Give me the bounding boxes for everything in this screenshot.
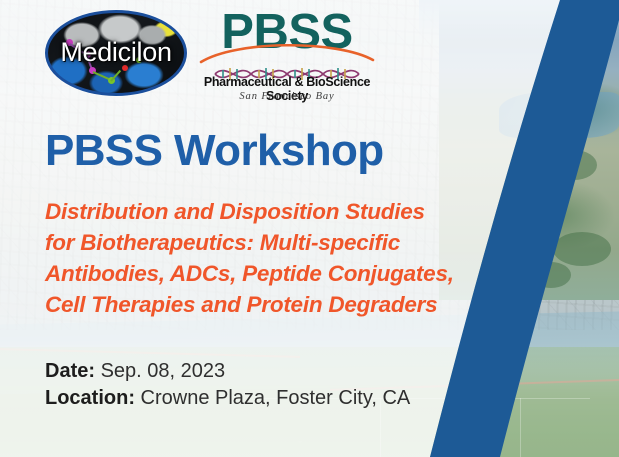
event-details: Date: Sep. 08, 2023 Location: Crowne Pla… bbox=[45, 358, 410, 412]
subtitle-line: Antibodies, ADCs, Peptide Conjugates, bbox=[45, 258, 454, 289]
molecule-bond bbox=[110, 70, 121, 82]
pbss-logo: PBSS bbox=[197, 12, 377, 104]
location-value: Crowne Plaza, Foster City, CA bbox=[141, 387, 411, 409]
event-date-row: Date: Sep. 08, 2023 bbox=[45, 358, 410, 385]
date-label: Date: bbox=[45, 360, 101, 382]
date-value: Sep. 08, 2023 bbox=[101, 360, 226, 382]
medicilon-wordmark: Medicilon bbox=[48, 37, 184, 68]
background-tree-clump bbox=[551, 150, 597, 180]
background-tree-clump bbox=[531, 262, 571, 288]
page-title: PBSS Workshop bbox=[45, 129, 384, 173]
logo-row: Medicilon PBSS bbox=[0, 0, 619, 110]
subtitle-line: for Biotherapeutics: Multi-specific bbox=[45, 227, 454, 258]
pbss-chapter: San Francisco Bay bbox=[197, 91, 377, 102]
subtitle-line: Cell Therapies and Protein Degraders bbox=[45, 289, 454, 320]
event-poster: Medicilon PBSS bbox=[0, 0, 619, 457]
location-label: Location: bbox=[45, 387, 141, 409]
background-field-line bbox=[520, 398, 521, 457]
medicilon-logo: Medicilon bbox=[45, 10, 187, 96]
background-tree-clump bbox=[553, 232, 611, 266]
subtitle-line: Distribution and Disposition Studies bbox=[45, 196, 454, 227]
workshop-subtitle: Distribution and Disposition Studies for… bbox=[45, 196, 454, 320]
event-location-row: Location: Crowne Plaza, Foster City, CA bbox=[45, 385, 410, 412]
